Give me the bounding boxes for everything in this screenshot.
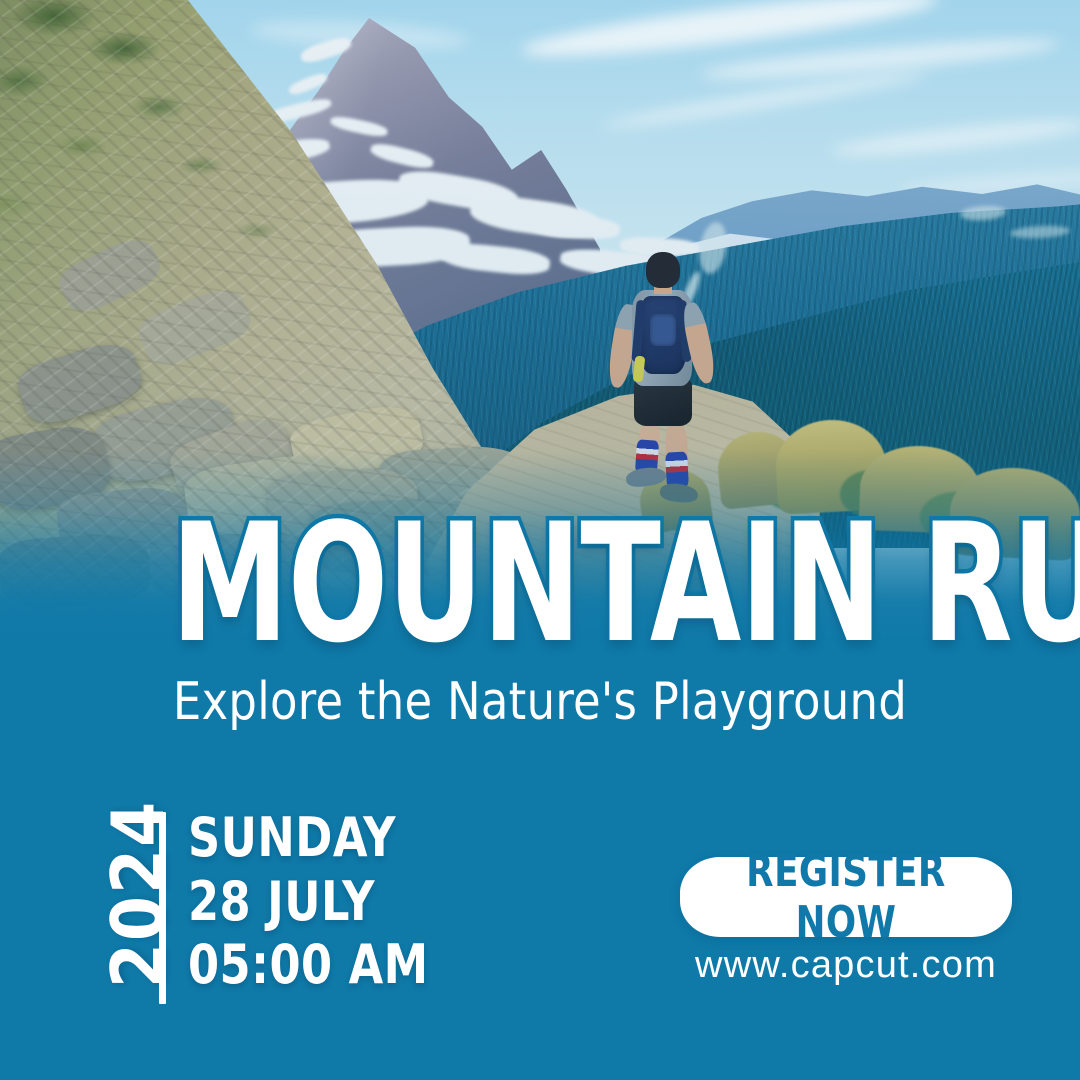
- page-title: MOUNTAIN RUNNING: [171, 518, 1080, 649]
- register-now-button[interactable]: REGISTER NOW: [680, 857, 1012, 937]
- event-time: 05:00 AM: [188, 933, 429, 997]
- website-url[interactable]: www.capcut.com: [680, 944, 1012, 987]
- title-container: MOUNTAIN RUNNING: [0, 518, 1080, 649]
- event-date-block: 2024 SUNDAY 28 JULY 05:00 AM: [62, 800, 482, 1015]
- vertical-divider: [159, 812, 166, 1004]
- register-now-label: REGISTER NOW: [697, 846, 996, 948]
- event-date: 28 JULY: [188, 870, 429, 934]
- trail-runner: [610, 252, 720, 502]
- poster-canvas: MOUNTAIN RUNNING Explore the Nature's Pl…: [0, 0, 1080, 1080]
- event-datetime: SUNDAY 28 JULY 05:00 AM: [188, 806, 450, 997]
- event-day: SUNDAY: [188, 806, 429, 870]
- runner-head: [646, 252, 680, 288]
- page-subtitle: Explore the Nature's Playground: [22, 672, 1059, 732]
- runner-left-shoe: [625, 465, 667, 488]
- runner-backpack-panel: [650, 314, 676, 346]
